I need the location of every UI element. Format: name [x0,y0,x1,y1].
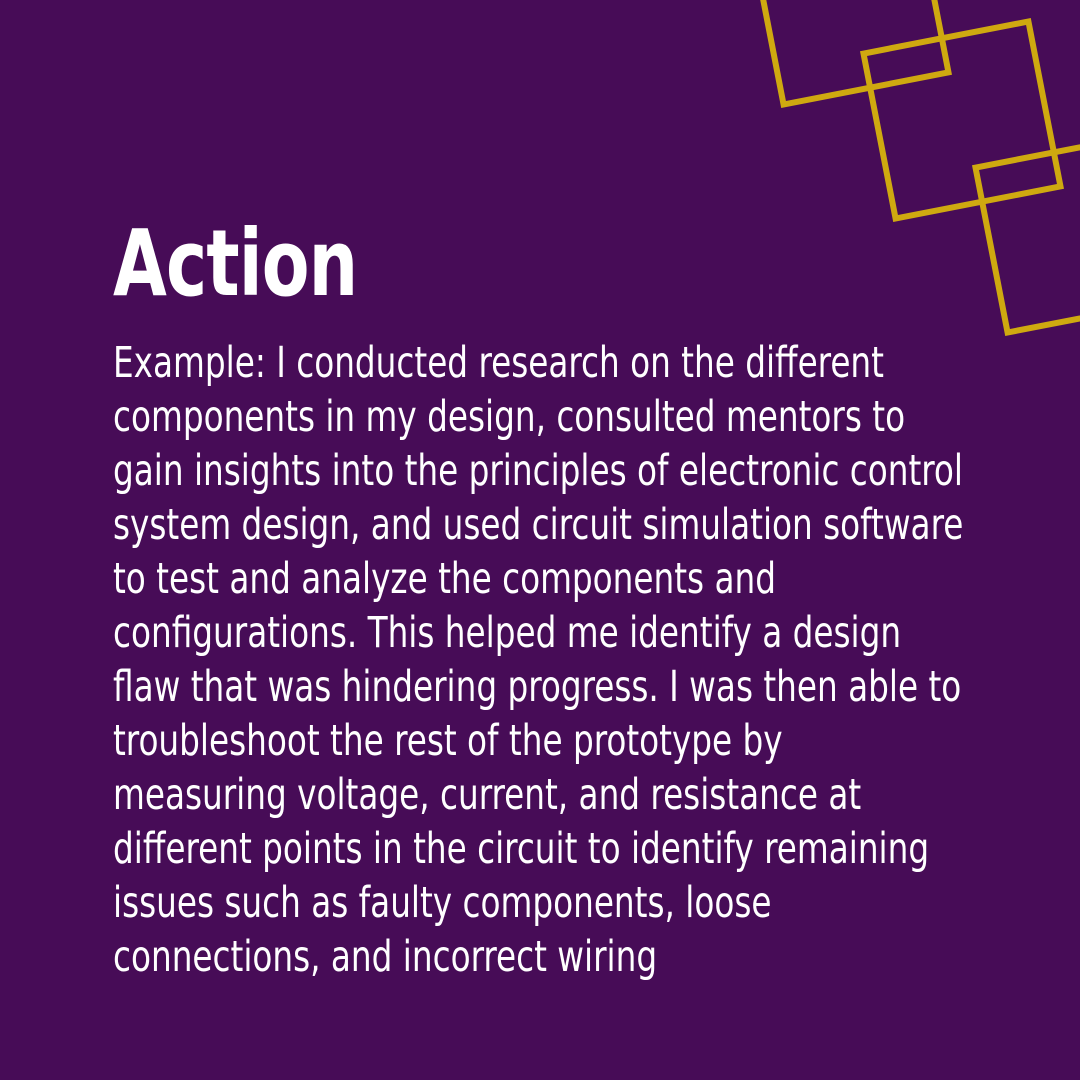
page-title: Action [113,218,835,310]
body-paragraph: Example: I conducted research on the dif… [113,336,966,984]
text-content-block: Action Example: I conducted research on … [113,218,973,984]
gold-square-2 [864,22,1061,219]
gold-square-1 [752,0,949,104]
slide-canvas: Action Example: I conducted research on … [0,0,1080,1080]
gold-square-3 [976,136,1080,333]
